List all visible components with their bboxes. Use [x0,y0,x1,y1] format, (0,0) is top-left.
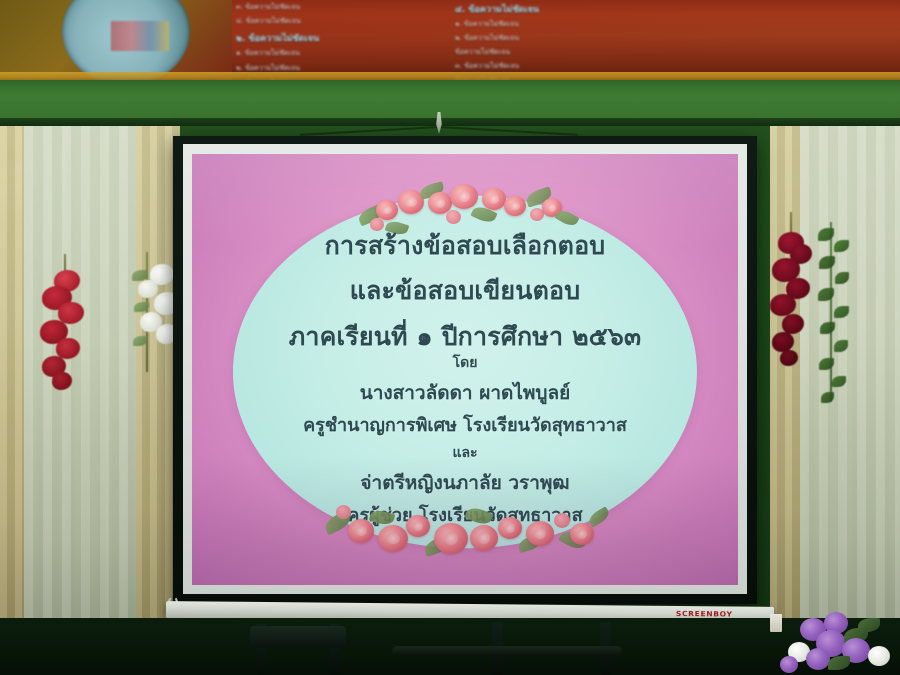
presentation-slide: การสร้างข้อสอบเลือกตอบ และข้อสอบเขียนตอบ… [192,154,738,585]
slide-title-line-2: และข้อสอบเขียนตอบ [350,277,581,304]
slide-text-block: การสร้างข้อสอบเลือกตอบ และข้อสอบเขียนตอบ… [192,154,738,585]
overhead-banner: ๓. ข้อความไม่ชัดเจน ๔. ข้อความไม่ชัดเจน … [0,0,900,80]
banner-text-left: ๓. ข้อความไม่ชัดเจน ๔. ข้อความไม่ชัดเจน … [236,2,319,80]
purple-flower-arrangement [772,612,898,675]
slide-and-label: และ [452,442,477,464]
screen-surface: การสร้างข้อสอบเลือกตอบ และข้อสอบเขียนตอบ… [183,144,747,594]
chair-rail [392,646,622,656]
presenter-2-role: ครูผู้ช่วย โรงเรียนวัดสุทธาวาส [347,500,582,529]
banner-text-right: ๔. ข้อความไม่ชัดเจน ๑. ข้อความไม่ชัดเจน … [455,2,539,80]
presenter-1-name: นางสาวลัดดา ผาดไพบูลย์ [360,378,571,408]
classroom-scene: ๓. ข้อความไม่ชัดเจน ๔. ข้อความไม่ชัดเจน … [0,0,900,675]
ceremonial-seal-icon [62,0,190,80]
presenter-1-role: ครูชำนาญการพิเศษ โรงเรียนวัดสุทธาวาส [303,410,627,439]
slide-title-line-1: การสร้างข้อสอบเลือกตอบ [325,232,606,259]
sheer-curtain-right [800,126,900,675]
projection-screen[interactable]: การสร้างข้อสอบเลือกตอบ และข้อสอบเขียนตอบ… [173,136,757,604]
chair-backrest [250,626,346,648]
sheer-curtain-left [24,126,136,675]
banner-bottom-trim [0,72,900,80]
slide-by-label: โดย [453,352,478,374]
slide-title-line-3: ภาคเรียนที่ ๑ ปีการศึกษา ๒๕๖๓ [289,323,642,350]
presenter-2-name: จ่าตรีหญิงนภาลัย วราพุฒ [360,468,569,498]
